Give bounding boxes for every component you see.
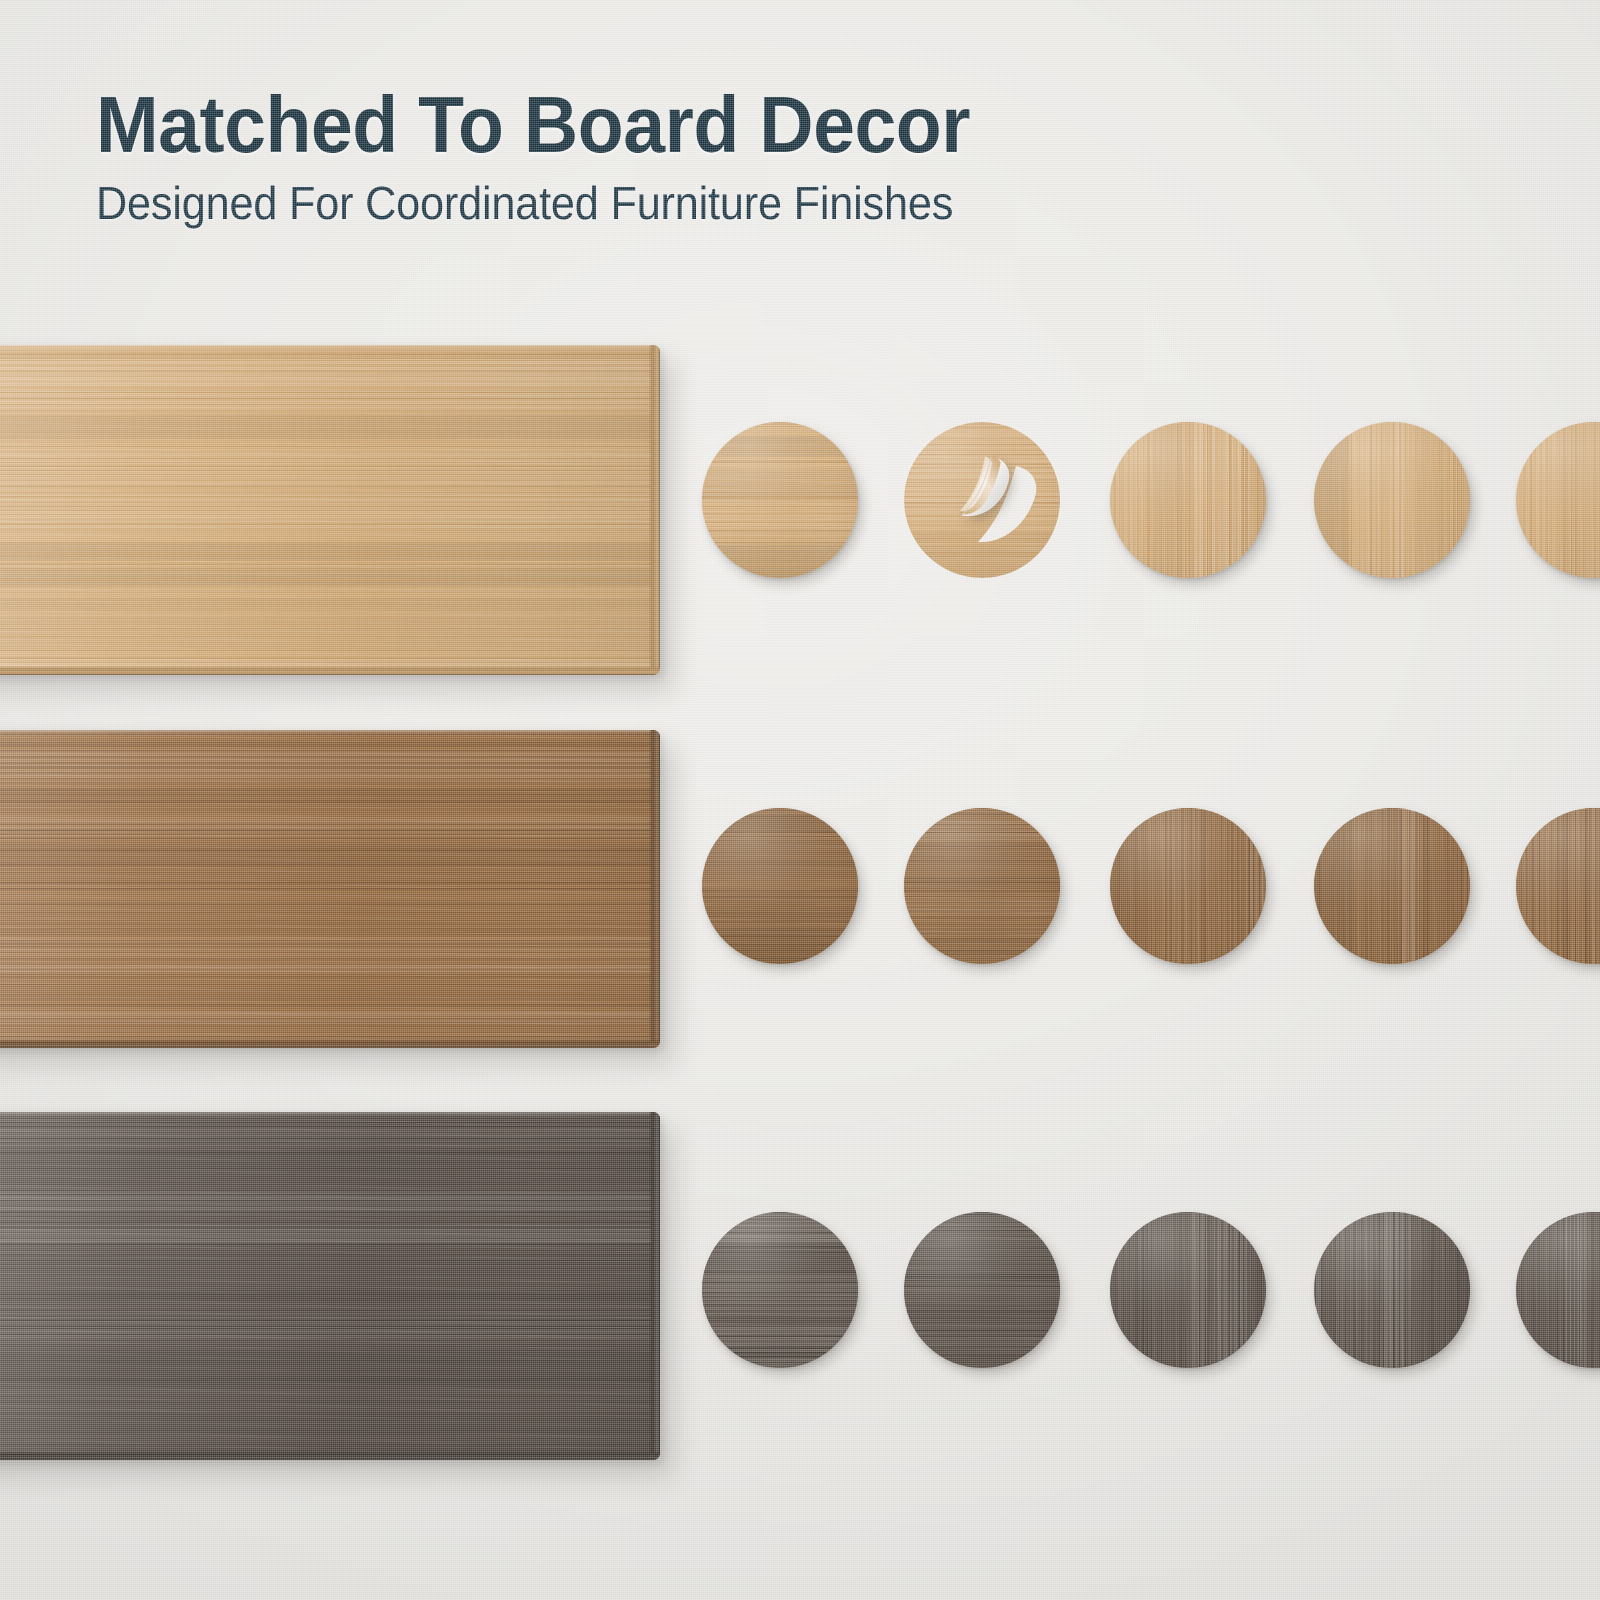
- medium-walnut-swatch-2-sheen: [904, 808, 1060, 964]
- dark-wenge-swatch-5[interactable]: [1516, 1212, 1600, 1368]
- medium-walnut-swatch-4[interactable]: [1314, 808, 1470, 964]
- page-subtitle: Designed For Coordinated Furniture Finis…: [96, 180, 970, 226]
- light-oak-swatch-3[interactable]: [1110, 422, 1266, 578]
- medium-walnut-plank-sheen: [0, 730, 660, 1048]
- medium-walnut-swatch-2[interactable]: [904, 808, 1060, 964]
- heading-block: Matched To Board Decor Designed For Coor…: [96, 86, 1026, 226]
- light-oak-plank-right-edge: [649, 345, 660, 675]
- dark-wenge-plank-right-edge: [649, 1112, 660, 1460]
- dark-wenge-swatch-2[interactable]: [904, 1212, 1060, 1368]
- light-oak-swatch-3-sheen: [1110, 422, 1266, 578]
- dark-wenge-plank-bottom-edge: [0, 1451, 660, 1460]
- light-oak-swatch-5[interactable]: [1516, 422, 1600, 578]
- dark-wenge-plank: [0, 1112, 660, 1460]
- dark-wenge-swatch-3-sheen: [1110, 1212, 1266, 1368]
- dark-wenge-plank-top-highlight: [0, 1112, 660, 1116]
- light-oak-plank-bottom-edge: [0, 666, 660, 675]
- light-oak-plank: [0, 345, 660, 675]
- dark-wenge-swatch-4[interactable]: [1314, 1212, 1470, 1368]
- medium-walnut-swatch-1[interactable]: [702, 808, 858, 964]
- light-oak-swatch-1-sheen: [702, 422, 858, 578]
- light-oak-swatch-1[interactable]: [702, 422, 858, 578]
- medium-walnut-plank: [0, 730, 660, 1048]
- medium-walnut-swatch-3[interactable]: [1110, 808, 1266, 964]
- dark-wenge-swatch-1[interactable]: [702, 1212, 858, 1368]
- medium-walnut-swatch-5[interactable]: [1516, 808, 1600, 964]
- dark-wenge-swatch-4-sheen: [1314, 1212, 1470, 1368]
- page-title: Matched To Board Decor: [96, 86, 970, 164]
- dark-wenge-swatch-1-sheen: [702, 1212, 858, 1368]
- medium-walnut-swatch-4-sheen: [1314, 808, 1470, 964]
- medium-walnut-plank-bottom-edge: [0, 1039, 660, 1048]
- dark-wenge-swatch-5-sheen: [1516, 1212, 1600, 1368]
- light-oak-swatch-5-sheen: [1516, 422, 1600, 578]
- product-feature-graphic: Matched To Board Decor Designed For Coor…: [0, 0, 1600, 1600]
- peeling-sticker-corner[interactable]: [904, 422, 1060, 578]
- light-oak-plank-top-highlight: [0, 345, 660, 349]
- dark-wenge-swatch-3[interactable]: [1110, 1212, 1266, 1368]
- medium-walnut-swatch-1-sheen: [702, 808, 858, 964]
- light-oak-plank-sheen: [0, 345, 660, 675]
- medium-walnut-plank-top-highlight: [0, 730, 660, 734]
- dark-wenge-plank-sheen: [0, 1112, 660, 1460]
- medium-walnut-swatch-5-sheen: [1516, 808, 1600, 964]
- light-oak-swatch-4[interactable]: [1314, 422, 1470, 578]
- light-oak-swatch-2[interactable]: [904, 422, 1060, 578]
- light-oak-swatch-4-sheen: [1314, 422, 1470, 578]
- medium-walnut-swatch-3-sheen: [1110, 808, 1266, 964]
- medium-walnut-plank-right-edge: [649, 730, 660, 1048]
- dark-wenge-swatch-2-sheen: [904, 1212, 1060, 1368]
